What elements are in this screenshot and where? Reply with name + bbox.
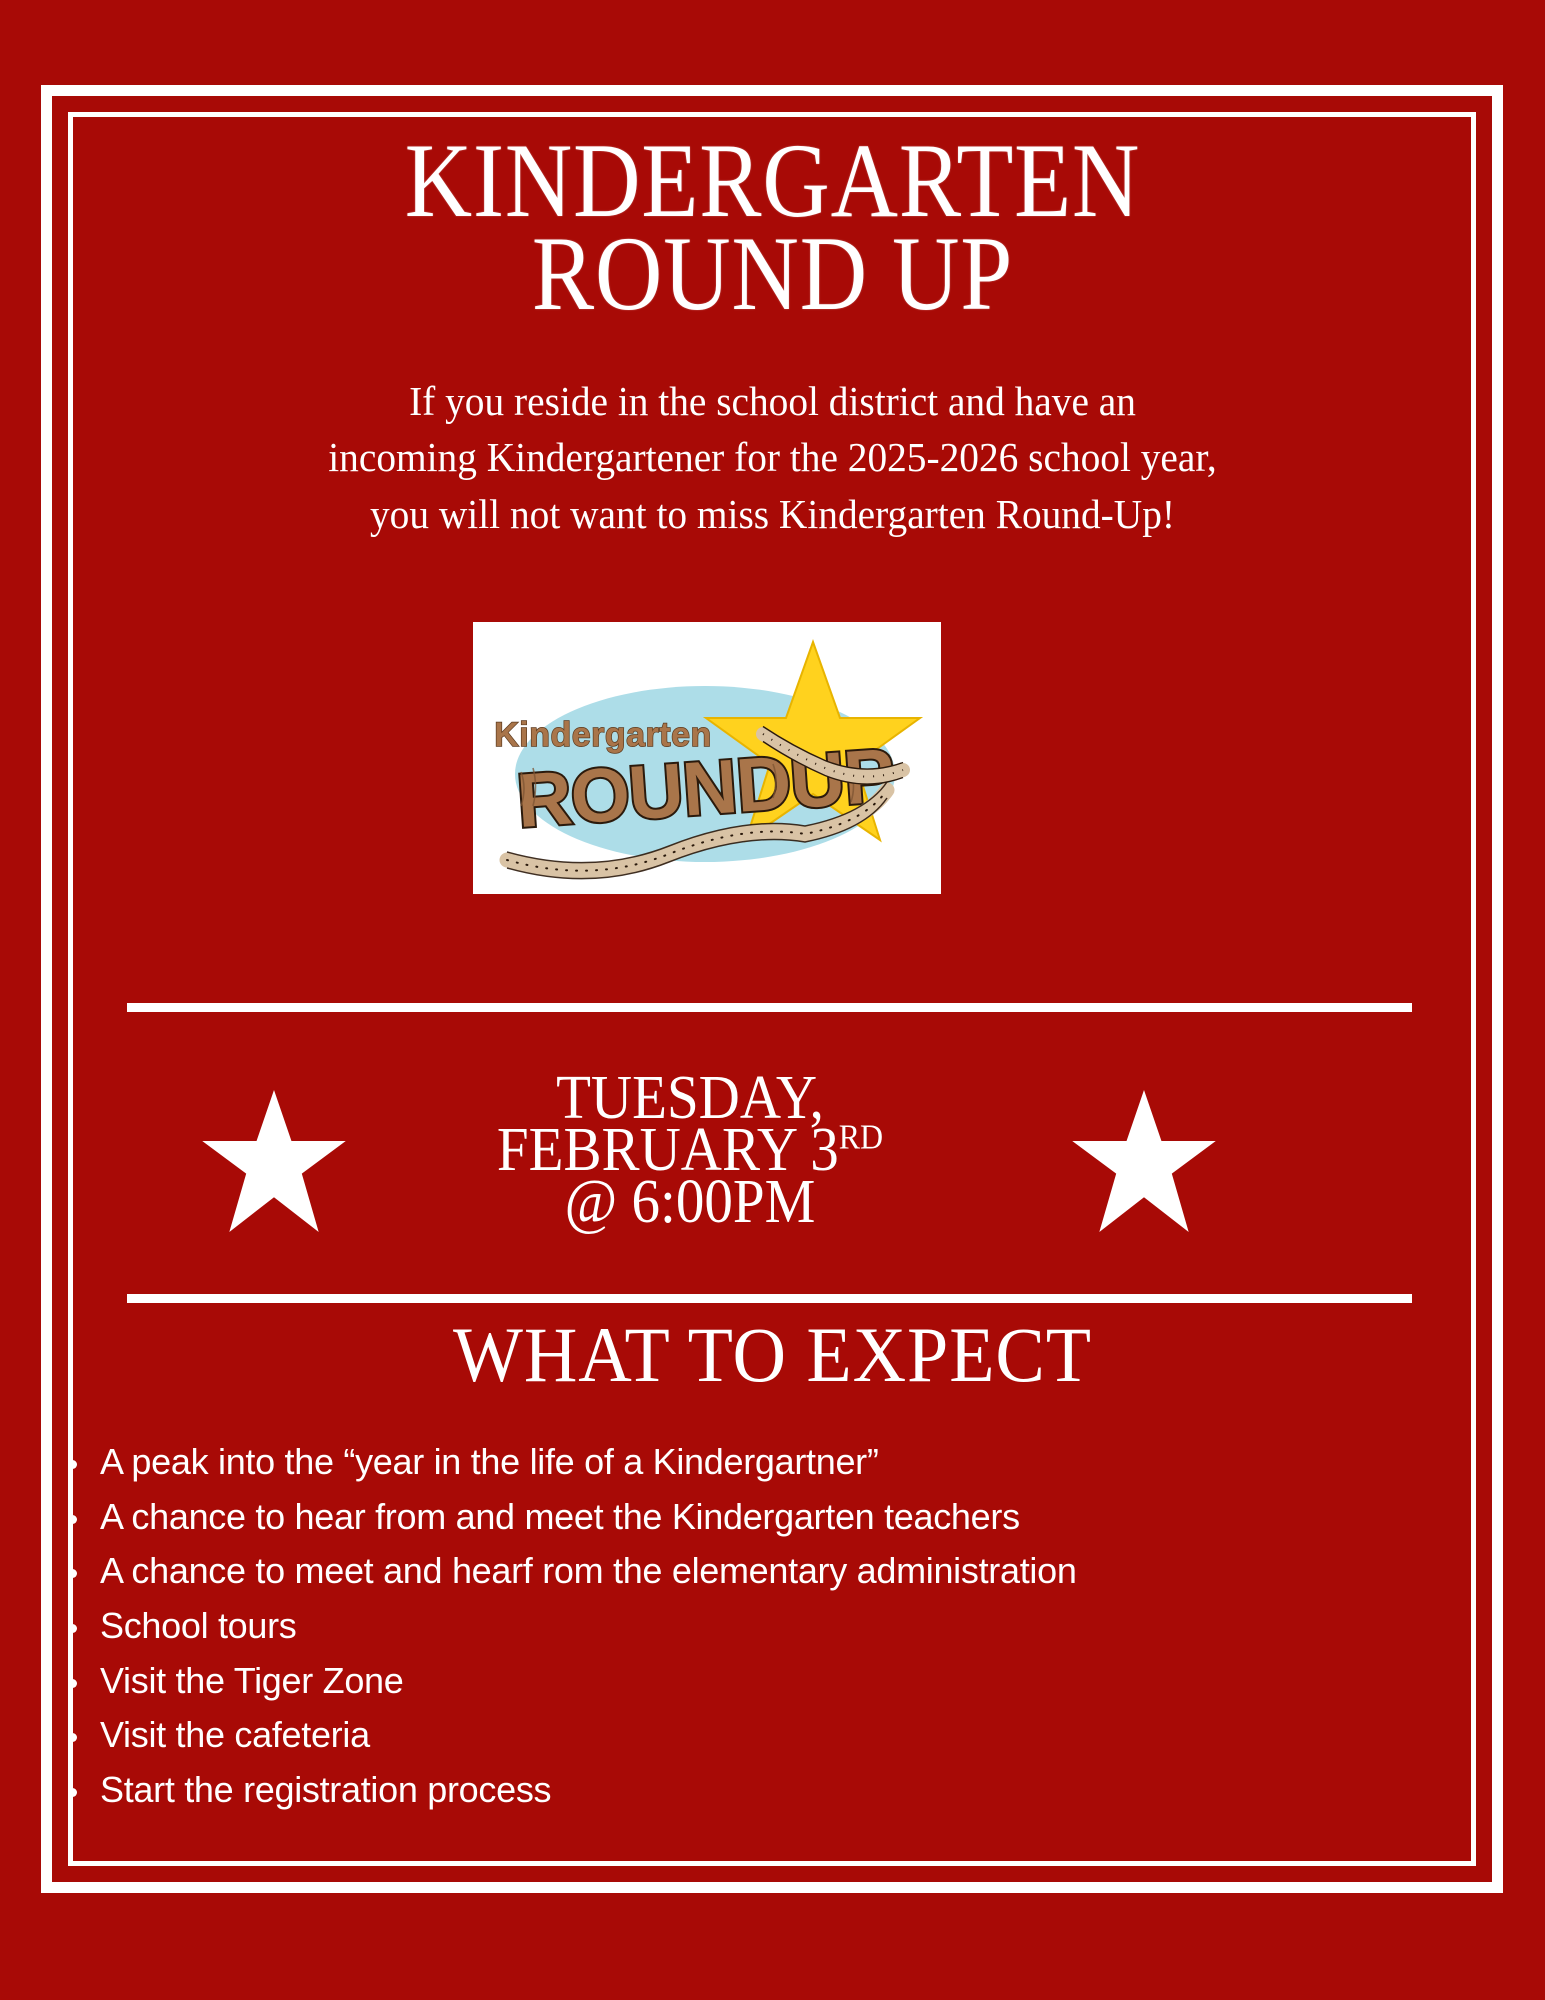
list-item: Start the registration process — [62, 1768, 1462, 1813]
what-to-expect-list: A peak into the “year in the life of a K… — [62, 1440, 1462, 1822]
intro-line-3: you will not want to miss Kindergarten R… — [117, 486, 1427, 543]
star-icon-right — [1070, 1090, 1218, 1232]
flyer-content: KINDERGARTEN ROUND UP If you reside in t… — [90, 112, 1455, 542]
date-time: @ 6:00PM — [396, 1176, 985, 1228]
divider-below-date — [127, 1294, 1412, 1303]
star-icon-left — [200, 1090, 348, 1232]
title-line-1: KINDERGARTEN — [172, 134, 1373, 227]
list-item: A chance to meet and hearf rom the eleme… — [62, 1549, 1462, 1594]
divider-above-date — [127, 1003, 1412, 1012]
list-item: Visit the Tiger Zone — [62, 1659, 1462, 1704]
kindergarten-roundup-logo: Kindergarten ROUNDUP — [473, 622, 941, 894]
kindergarten-roundup-flyer: KINDERGARTEN ROUND UP If you reside in t… — [0, 0, 1545, 2000]
intro-line-2: incoming Kindergartener for the 2025-202… — [117, 429, 1427, 486]
list-item: School tours — [62, 1604, 1462, 1649]
list-item: Visit the cafeteria — [62, 1713, 1462, 1758]
page-title: KINDERGARTEN ROUND UP — [172, 134, 1373, 321]
title-line-2: ROUND UP — [172, 227, 1373, 320]
intro-line-1: If you reside in the school district and… — [117, 373, 1427, 430]
date-ordinal-suffix: RD — [839, 1117, 883, 1156]
list-item: A chance to hear from and meet the Kinde… — [62, 1495, 1462, 1540]
intro-paragraph: If you reside in the school district and… — [117, 373, 1427, 543]
event-date-time: TUESDAY, FEBRUARY 3RD @ 6:00PM — [396, 1072, 985, 1228]
list-item: A peak into the “year in the life of a K… — [62, 1440, 1462, 1485]
what-to-expect-heading: WHAT TO EXPECT — [124, 1316, 1421, 1394]
